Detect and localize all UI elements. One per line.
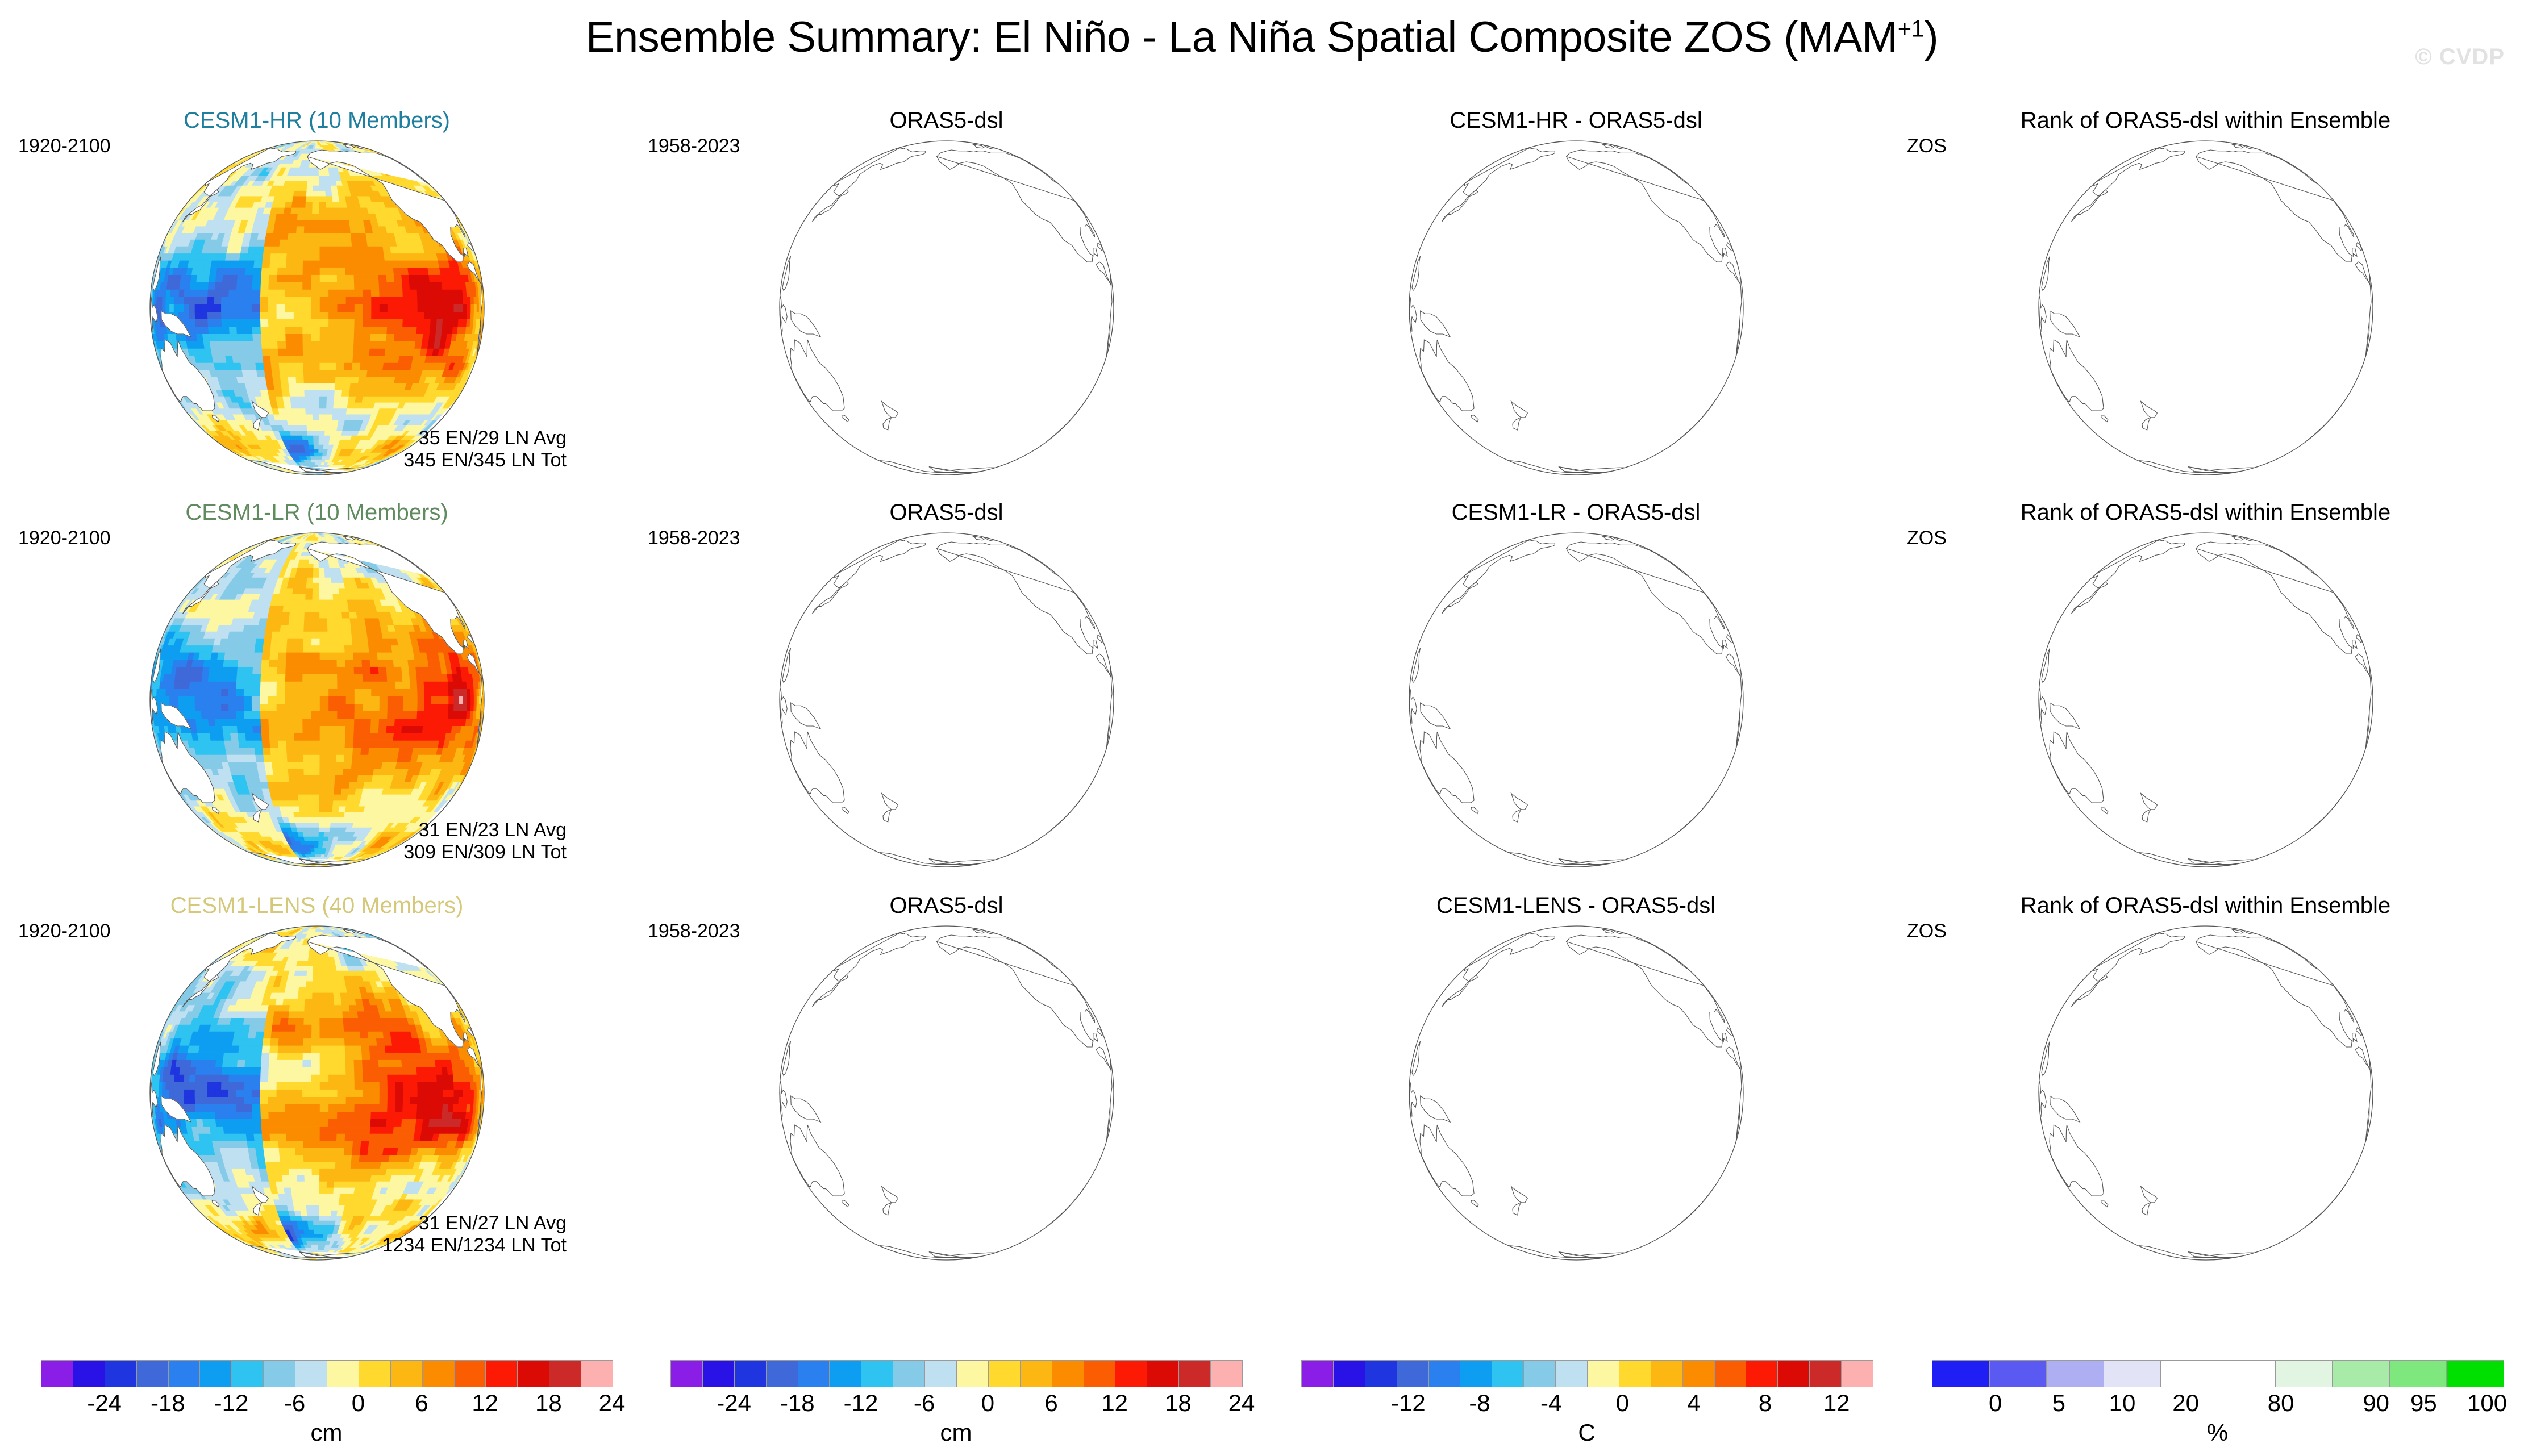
colorbar-swatch [1932, 1361, 1990, 1387]
colorbar-swatch [1084, 1361, 1116, 1387]
colorbar-tick-label: 12 [472, 1390, 498, 1417]
colorbar-swatch [2276, 1361, 2333, 1387]
composite-total-count: 345 EN/345 LN Tot [403, 449, 567, 472]
colorbar-swatch [1429, 1361, 1461, 1387]
panel-title: CESM1-LR - ORAS5-dsl [1276, 500, 1876, 525]
colorbar-swatch [2218, 1361, 2276, 1387]
colorbar-unit-label: cm [41, 1419, 612, 1446]
colorbar-tick-label: 4 [1687, 1390, 1700, 1417]
colorbar-swatch [232, 1361, 264, 1387]
map-globe [1289, 137, 1863, 478]
colorbar-swatch [767, 1361, 798, 1387]
colorbar-swatch [2390, 1361, 2447, 1387]
colorbar-swatch [137, 1361, 169, 1387]
colorbar-tick-label: 24 [599, 1390, 626, 1417]
colorbar-swatch [2161, 1361, 2218, 1387]
colorbar-swatch [925, 1361, 957, 1387]
colorbar-swatch [1619, 1361, 1651, 1387]
page-title-superscript: +1 [1898, 15, 1925, 42]
panel-cesm1-hr-obs: ORAS5-dsl1958-2023 [647, 108, 1246, 489]
panel-title: Rank of ORAS5-dsl within Ensemble [1906, 893, 2505, 919]
colorbar-swatch [1842, 1361, 1873, 1387]
panel-cesm1-lr-diff: CESM1-LR - ORAS5-dsl [1276, 500, 1876, 881]
colorbar-swatch [455, 1361, 486, 1387]
colorbar-ticks: -24-18-12-606121824 [670, 1390, 1242, 1420]
colorbar-swatch [1052, 1361, 1084, 1387]
colorbar-tick-label: 12 [1101, 1390, 1128, 1417]
colorbar-tick-label: 6 [1044, 1390, 1057, 1417]
panel-title: ORAS5-dsl [647, 108, 1246, 133]
colorbar-swatch [2104, 1361, 2161, 1387]
figure-root: Ensemble Summary: El Niño - La Niña Spat… [0, 0, 2524, 1456]
colorbar-swatch [989, 1361, 1021, 1387]
colorbar-swatch [2333, 1361, 2390, 1387]
colorbar-swatch [518, 1361, 549, 1387]
colorbar-swatch [703, 1361, 735, 1387]
colorbar-tick-label: -24 [87, 1390, 122, 1417]
colorbar-tick-label: -6 [284, 1390, 305, 1417]
colorbar-swatch [861, 1361, 893, 1387]
panel-cesm1-hr-model: CESM1-HR (10 Members)1920-210035 EN/29 L… [17, 108, 617, 489]
colorbar-strip [41, 1360, 613, 1387]
colorbar-swatch [671, 1361, 703, 1387]
panel-cesm1-lens-model: CESM1-LENS (40 Members)1920-210031 EN/27… [17, 893, 617, 1274]
map-globe [660, 137, 1234, 478]
colorbar-swatch [581, 1361, 613, 1387]
colorbar-tick-label: 80 [2268, 1390, 2294, 1417]
colorbar-swatch [423, 1361, 455, 1387]
panel-title: CESM1-LENS - ORAS5-dsl [1276, 893, 1876, 919]
map-globe [660, 529, 1234, 870]
colorbar-swatch [1397, 1361, 1429, 1387]
colorbar-tick-label: 8 [1759, 1390, 1772, 1417]
map-globe [1919, 529, 2493, 870]
composite-avg-count: 31 EN/27 LN Avg [382, 1212, 567, 1234]
colorbar-unit-label: % [1932, 1419, 2503, 1446]
colorbar-swatch [1492, 1361, 1524, 1387]
colorbar-swatch [391, 1361, 423, 1387]
colorbar-tick-label: -6 [914, 1390, 935, 1417]
colorbar-swatch [1460, 1361, 1492, 1387]
panel-title: CESM1-HR - ORAS5-dsl [1276, 108, 1876, 133]
colorbar-swatch [200, 1361, 232, 1387]
panel-cesm1-lr-model: CESM1-LR (10 Members)1920-210031 EN/23 L… [17, 500, 617, 881]
panel-title: CESM1-HR (10 Members) [17, 108, 617, 133]
colorbar-swatch [1778, 1361, 1810, 1387]
panel-cesm1-lens-rank: Rank of ORAS5-dsl within EnsembleZOS [1906, 893, 2505, 1274]
colorbar-ticks: -24-18-12-606121824 [41, 1390, 612, 1420]
panel-title: ORAS5-dsl [647, 500, 1246, 525]
composite-total-count: 1234 EN/1234 LN Tot [382, 1234, 567, 1257]
colorbar-swatch [1334, 1361, 1365, 1387]
colorbar-tick-label: 18 [535, 1390, 562, 1417]
composite-avg-count: 31 EN/23 LN Avg [403, 819, 567, 841]
colorbar-tick-label: 100 [2467, 1390, 2507, 1417]
colorbar-tick-label: 90 [2363, 1390, 2389, 1417]
colorbar-swatch [1810, 1361, 1842, 1387]
colorbar-swatch [893, 1361, 925, 1387]
map-globe [1919, 923, 2493, 1263]
colorbar-tick-label: -8 [1469, 1390, 1490, 1417]
page-title-main: Ensemble Summary: El Niño - La Niña Spat… [586, 13, 1898, 61]
map-globe [1919, 137, 2493, 478]
composite-count-note: 31 EN/27 LN Avg1234 EN/1234 LN Tot [382, 1212, 567, 1257]
colorbar-swatch [735, 1361, 767, 1387]
colorbar-swatch [169, 1361, 201, 1387]
colorbar-swatch [1556, 1361, 1588, 1387]
colorbar-cb-zos-2: -24-18-12-606121824cm [670, 1360, 1242, 1451]
colorbar-swatch [1021, 1361, 1052, 1387]
colorbar-tick-label: -12 [844, 1390, 878, 1417]
colorbar-cb-zos-1: -24-18-12-606121824cm [41, 1360, 612, 1451]
map-globe [1289, 529, 1863, 870]
panel-cesm1-hr-diff: CESM1-HR - ORAS5-dsl [1276, 108, 1876, 489]
colorbar-cb-diff: -12-8-404812C [1301, 1360, 1872, 1451]
colorbar-swatch [1524, 1361, 1556, 1387]
colorbar-swatch [830, 1361, 861, 1387]
colorbar-tick-label: 10 [2109, 1390, 2136, 1417]
colorbar-tick-label: 0 [981, 1390, 994, 1417]
colorbar-tick-label: 95 [2410, 1390, 2437, 1417]
panel-cesm1-lr-obs: ORAS5-dsl1958-2023 [647, 500, 1246, 881]
colorbar-tick-label: 6 [415, 1390, 428, 1417]
map-globe [1289, 923, 1863, 1263]
colorbar-swatch [73, 1361, 105, 1387]
map-globe [660, 923, 1234, 1263]
colorbar-swatch [2047, 1361, 2104, 1387]
colorbar-swatch [359, 1361, 391, 1387]
colorbar-swatch [549, 1361, 581, 1387]
panel-cesm1-hr-rank: Rank of ORAS5-dsl within EnsembleZOS [1906, 108, 2505, 489]
colorbar-swatch [957, 1361, 989, 1387]
colorbar-strip [1301, 1360, 1873, 1387]
colorbar-tick-label: -12 [1391, 1390, 1426, 1417]
colorbar-ticks: 051020809095100 [1932, 1390, 2503, 1420]
colorbar-swatch [1746, 1361, 1778, 1387]
colorbar-tick-label: 12 [1823, 1390, 1850, 1417]
colorbar-tick-label: 24 [1228, 1390, 1255, 1417]
colorbar-swatch [1211, 1361, 1242, 1387]
composite-total-count: 309 EN/309 LN Tot [403, 841, 567, 863]
colorbar-swatch [798, 1361, 830, 1387]
colorbar-cb-rank: 051020809095100% [1932, 1360, 2503, 1451]
colorbar-unit-label: cm [670, 1419, 1242, 1446]
colorbar-swatch [1302, 1361, 1334, 1387]
page-title-close: ) [1924, 13, 1938, 61]
page-title: Ensemble Summary: El Niño - La Niña Spat… [0, 12, 2524, 62]
colorbar-swatch [1115, 1361, 1147, 1387]
colorbar-tick-label: 18 [1165, 1390, 1192, 1417]
panel-cesm1-lens-diff: CESM1-LENS - ORAS5-dsl [1276, 893, 1876, 1274]
colorbar-swatch [1715, 1361, 1747, 1387]
colorbar-tick-label: 0 [1616, 1390, 1629, 1417]
colorbar-tick-label: 0 [352, 1390, 365, 1417]
colorbar-swatch [2447, 1361, 2504, 1387]
colorbar-tick-label: -18 [151, 1390, 185, 1417]
cvdp-watermark: © CVDP [2415, 44, 2505, 70]
composite-avg-count: 35 EN/29 LN Avg [403, 427, 567, 449]
colorbar-swatch [1365, 1361, 1397, 1387]
colorbar-swatch [327, 1361, 359, 1387]
colorbar-tick-label: -4 [1540, 1390, 1561, 1417]
panel-title: CESM1-LR (10 Members) [17, 500, 617, 525]
composite-count-note: 31 EN/23 LN Avg309 EN/309 LN Tot [403, 819, 567, 864]
colorbar-swatch [1588, 1361, 1619, 1387]
colorbar-swatch [1147, 1361, 1179, 1387]
colorbar-swatch [1990, 1361, 2047, 1387]
panel-title: Rank of ORAS5-dsl within Ensemble [1906, 108, 2505, 133]
colorbar-swatch [264, 1361, 295, 1387]
colorbar-swatch [41, 1361, 73, 1387]
colorbar-swatch [1651, 1361, 1683, 1387]
colorbar-strip [670, 1360, 1243, 1387]
colorbar-tick-label: -12 [214, 1390, 249, 1417]
colorbar-tick-label: -18 [780, 1390, 815, 1417]
colorbar-swatch [295, 1361, 327, 1387]
colorbar-strip [1932, 1360, 2504, 1387]
colorbar-swatch [1179, 1361, 1211, 1387]
colorbar-tick-label: 5 [2052, 1390, 2065, 1417]
panel-cesm1-lr-rank: Rank of ORAS5-dsl within EnsembleZOS [1906, 500, 2505, 881]
colorbar-swatch [105, 1361, 137, 1387]
colorbar-tick-label: -24 [717, 1390, 751, 1417]
panel-title: ORAS5-dsl [647, 893, 1246, 919]
colorbar-tick-label: 0 [1989, 1390, 2002, 1417]
composite-count-note: 35 EN/29 LN Avg345 EN/345 LN Tot [403, 427, 567, 472]
panel-title: Rank of ORAS5-dsl within Ensemble [1906, 500, 2505, 525]
colorbar-unit-label: C [1301, 1419, 1872, 1446]
panel-cesm1-lens-obs: ORAS5-dsl1958-2023 [647, 893, 1246, 1274]
colorbar-ticks: -12-8-404812 [1301, 1390, 1872, 1420]
panel-title: CESM1-LENS (40 Members) [17, 893, 617, 919]
colorbar-swatch [1683, 1361, 1715, 1387]
colorbar-tick-label: 20 [2172, 1390, 2199, 1417]
colorbar-swatch [486, 1361, 518, 1387]
